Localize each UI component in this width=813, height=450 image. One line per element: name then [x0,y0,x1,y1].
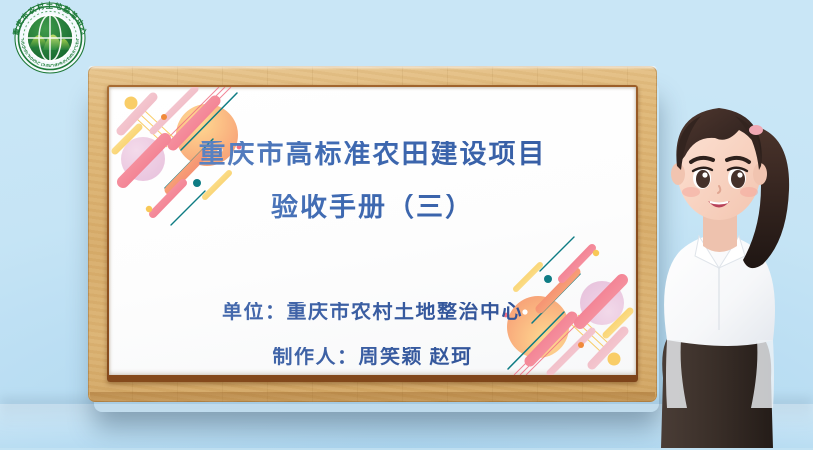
organization-logo: 重庆市农村土地整治中心 CHONGQING RURAL LAND IMPROVE… [6,0,94,74]
cartoon-presenter-avatar [623,78,813,448]
subtitle-block: 单位：重庆市农村土地整治中心 制作人：周笑颖 赵珂 [109,302,636,367]
subtitle-line-2: 制作人：周笑颖 赵珂 [109,347,636,367]
title-line-1: 重庆市高标准农田建设项目 [109,141,636,168]
frame-top-highlight [88,66,657,70]
subtitle-line-1: 单位：重庆市农村土地整治中心 [109,302,636,322]
slide-canvas: 重庆市农村土地整治中心 CHONGQING RURAL LAND IMPROVE… [0,0,813,448]
title-line-2: 验收手册（三） [109,194,636,221]
title-block: 重庆市高标准农田建设项目 验收手册（三） [109,141,636,221]
presentation-board: 重庆市高标准农田建设项目 验收手册（三） 单位：重庆市农村土地整治中心 制作人：… [88,66,657,402]
frame-bottom-shade [90,392,655,402]
slide-content-area: 重庆市高标准农田建设项目 验收手册（三） 单位：重庆市农村土地整治中心 制作人：… [109,87,636,375]
